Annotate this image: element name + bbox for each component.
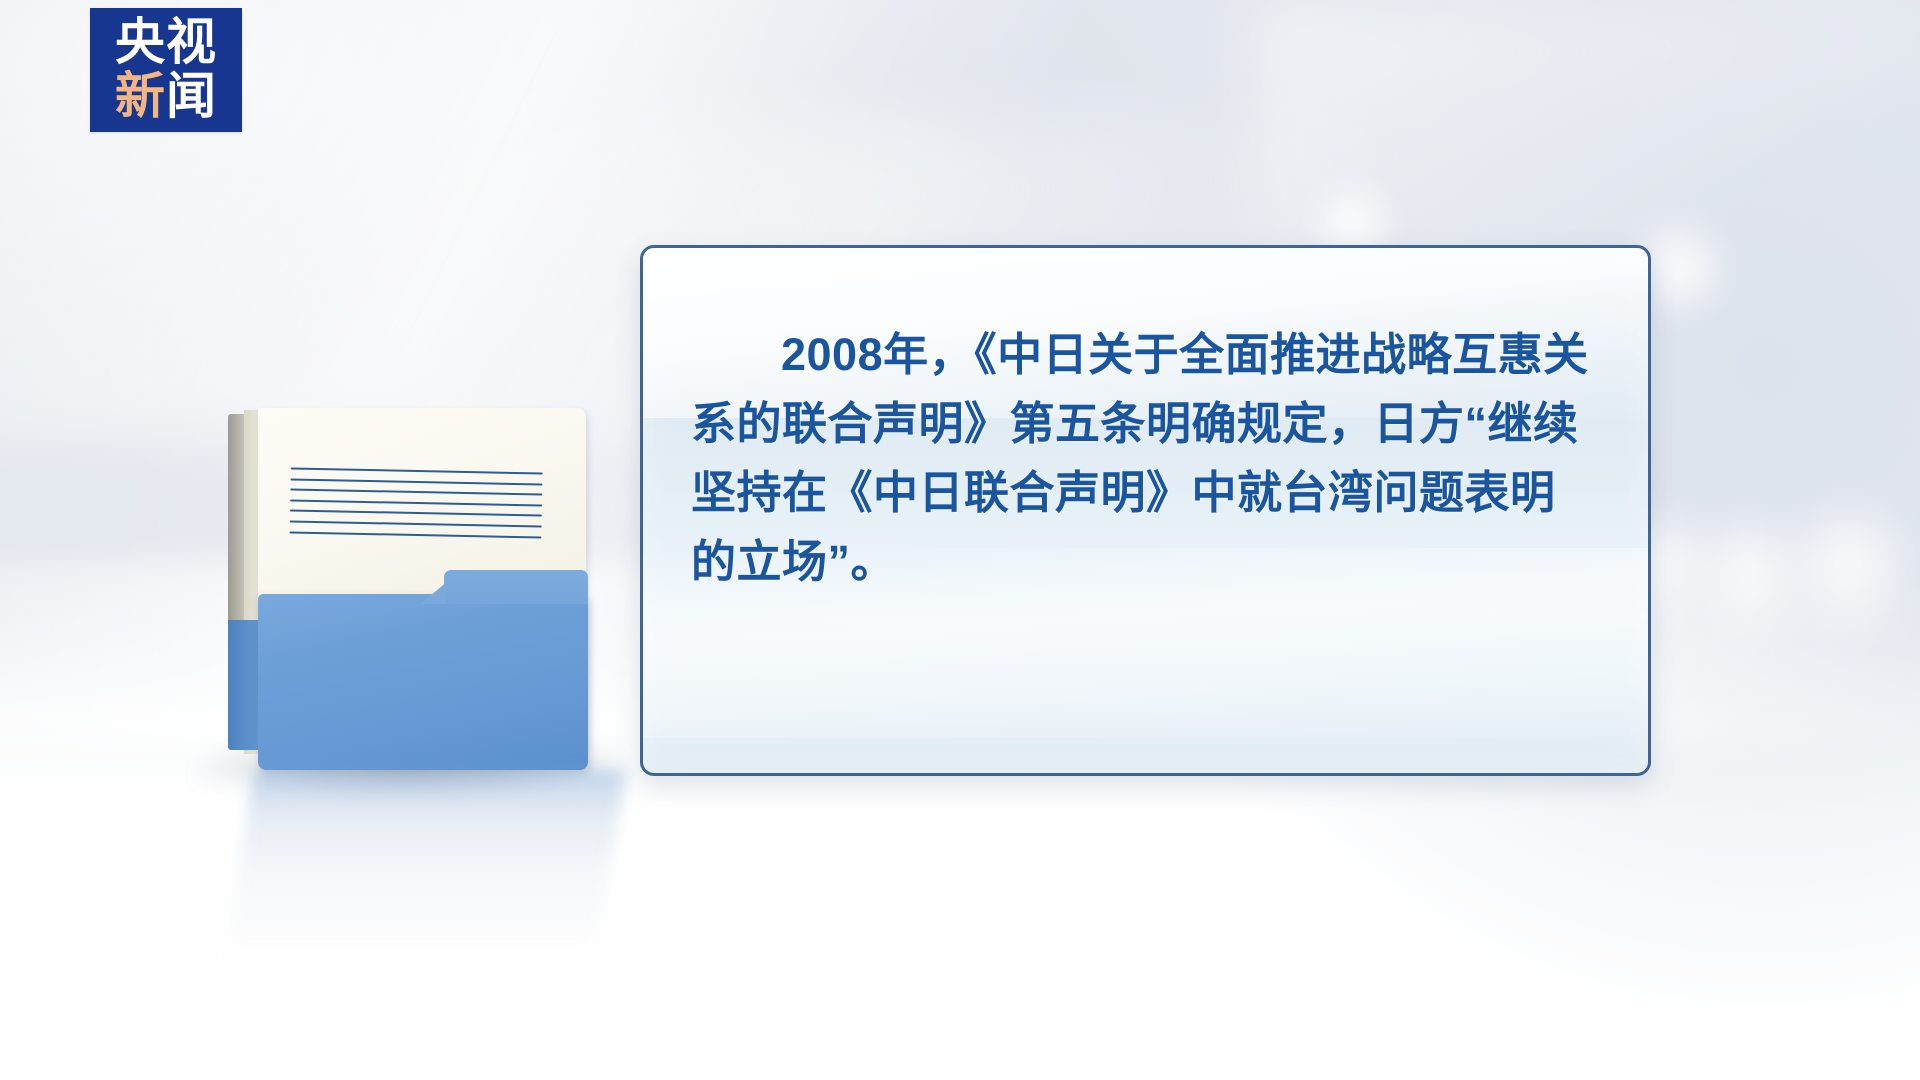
bokeh-light <box>1692 518 1804 630</box>
folder-front-panel <box>258 594 588 770</box>
logo-line-xinwen: 新闻 <box>115 71 217 121</box>
folder-tab <box>444 570 588 604</box>
cctv-news-logo[interactable]: 央视 新闻 <box>90 8 242 132</box>
logo-line-yangshi: 央视 <box>115 17 217 67</box>
quote-card: 2008年，《中日关于全面推进战略互惠关系的联合声明》第五条明确规定，日方“继续… <box>640 245 1651 776</box>
scene-canvas: 央视 新闻 2008年，《中日关于全面推进战略互惠关系的联合声明》第五条明确规定… <box>0 0 1920 1080</box>
logo-char-wen: 闻 <box>166 68 217 124</box>
folder-floor-reflection <box>218 770 626 1000</box>
logo-char-xin: 新 <box>115 68 166 124</box>
quote-text: 2008年，《中日关于全面推进战略互惠关系的联合声明》第五条明确规定，日方“继续… <box>691 321 1594 596</box>
document-folder-illustration <box>228 408 600 770</box>
document-rule-lines <box>289 467 542 548</box>
bokeh-light <box>1788 506 1908 626</box>
folder-spine-blue-edge <box>228 620 262 750</box>
